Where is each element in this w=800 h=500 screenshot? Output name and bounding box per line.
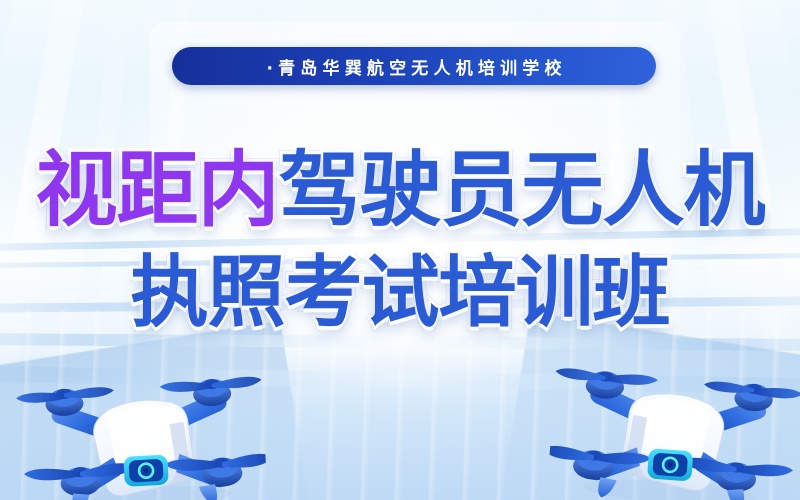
title-line-2-segment-blue: 执照考试培训班: [130, 254, 669, 332]
quadcopter-drone-right-icon: [547, 335, 800, 500]
school-name-banner: ·青岛华巽航空无人机培训学校: [172, 47, 656, 85]
poster-canvas: ·青岛华巽航空无人机培训学校 视距内驾驶员无人机 执照考试培训班: [0, 0, 800, 500]
school-name-text: ·青岛华巽航空无人机培训学校: [261, 54, 566, 79]
title-line-1-segment-blue: 驾驶员无人机: [279, 150, 765, 232]
title-line-2: 执照考试培训班: [0, 254, 800, 332]
main-title: 视距内驾驶员无人机 执照考试培训班: [0, 150, 800, 332]
quadcopter-drone-left-icon: [10, 346, 268, 500]
title-line-1-segment-purple: 视距内: [35, 150, 278, 232]
title-line-1: 视距内驾驶员无人机: [0, 150, 800, 232]
